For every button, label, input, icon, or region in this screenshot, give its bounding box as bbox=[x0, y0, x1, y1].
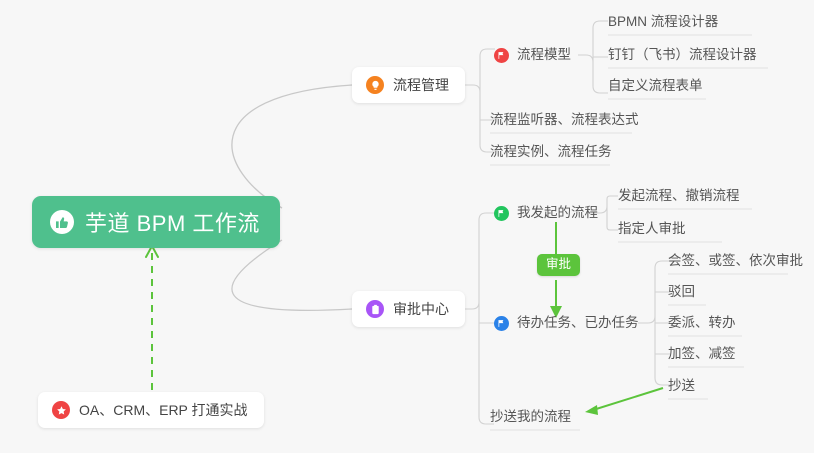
topic-todo-done-tasks[interactable]: 待办任务、已办任务 bbox=[494, 311, 639, 335]
topic-process-instance-task[interactable]: 流程实例、流程任务 bbox=[490, 140, 612, 164]
topic-custom-process-form[interactable]: 自定义流程表单 bbox=[608, 74, 703, 98]
topic-bpmn-designer[interactable]: BPMN 流程设计器 bbox=[608, 10, 718, 34]
flag-icon bbox=[494, 316, 509, 331]
root-label: 芋道 BPM 工作流 bbox=[85, 206, 260, 238]
mindmap-canvas: 芋道 BPM 工作流 流程管理 审批中心 流程模型 BPMN 流程设计器 钉 bbox=[0, 0, 814, 453]
topic-label: 会签、或签、依次审批 bbox=[668, 254, 803, 268]
note-label: OA、CRM、ERP 打通实战 bbox=[79, 400, 248, 420]
note-to-root-arrow bbox=[146, 246, 158, 390]
topic-carbon-copy[interactable]: 抄送 bbox=[668, 374, 695, 398]
topic-countersign-orsign-sequential[interactable]: 会签、或签、依次审批 bbox=[668, 249, 803, 273]
link-root-to-approval bbox=[232, 240, 352, 310]
topic-label: 委派、转办 bbox=[668, 316, 736, 330]
topic-my-started-processes[interactable]: 我发起的流程 bbox=[494, 201, 598, 225]
link-process-trunk bbox=[462, 49, 495, 152]
topic-label: 加签、减签 bbox=[668, 347, 736, 361]
link-approval-trunk bbox=[462, 213, 494, 424]
topic-label: 待办任务、已办任务 bbox=[517, 316, 639, 330]
flag-icon bbox=[494, 206, 509, 221]
topic-process-model[interactable]: 流程模型 bbox=[494, 43, 571, 67]
topic-dingtalk-feishu-designer[interactable]: 钉钉（飞书）流程设计器 bbox=[608, 43, 757, 67]
topic-delegate-transfer[interactable]: 委派、转办 bbox=[668, 311, 736, 335]
link-todo-trunk bbox=[638, 261, 670, 385]
root-node[interactable]: 芋道 BPM 工作流 bbox=[32, 196, 280, 248]
topic-label: 流程实例、流程任务 bbox=[490, 145, 612, 159]
cc-link-arrow bbox=[585, 388, 663, 415]
topic-label: 发起流程、撤销流程 bbox=[618, 189, 740, 203]
clipboard-icon bbox=[366, 300, 384, 318]
branch-label-process-management: 流程管理 bbox=[393, 75, 449, 95]
topic-label: 我发起的流程 bbox=[517, 206, 598, 220]
note-node-integration[interactable]: OA、CRM、ERP 打通实战 bbox=[38, 392, 264, 428]
branch-node-process-management[interactable]: 流程管理 bbox=[352, 67, 465, 103]
topic-label: 驳回 bbox=[668, 285, 695, 299]
topic-label: 流程模型 bbox=[517, 48, 571, 62]
link-model-trunk bbox=[578, 21, 608, 93]
star-icon bbox=[52, 401, 70, 419]
topic-label: 抄送我的流程 bbox=[490, 410, 571, 424]
branch-label-approval-center: 审批中心 bbox=[393, 299, 449, 319]
topic-label: BPMN 流程设计器 bbox=[608, 15, 718, 29]
topic-process-listener-expression[interactable]: 流程监听器、流程表达式 bbox=[490, 108, 639, 132]
topic-label: 流程监听器、流程表达式 bbox=[490, 113, 639, 127]
topic-label: 抄送 bbox=[668, 379, 695, 393]
topic-assignee-approval[interactable]: 指定人审批 bbox=[618, 217, 686, 241]
topic-label: 钉钉（飞书）流程设计器 bbox=[608, 48, 757, 62]
flag-icon bbox=[494, 48, 509, 63]
approval-flow-badge: 审批 bbox=[537, 254, 580, 276]
link-root-to-process bbox=[232, 85, 352, 208]
topic-label: 指定人审批 bbox=[618, 222, 686, 236]
topic-label: 自定义流程表单 bbox=[608, 79, 703, 93]
topic-cc-to-me-processes[interactable]: 抄送我的流程 bbox=[490, 405, 571, 429]
topic-add-remove-sign[interactable]: 加签、减签 bbox=[668, 342, 736, 366]
thumbs-up-icon bbox=[50, 210, 74, 234]
topic-reject[interactable]: 驳回 bbox=[668, 280, 695, 304]
branch-node-approval-center[interactable]: 审批中心 bbox=[352, 291, 465, 327]
topic-start-cancel-process[interactable]: 发起流程、撤销流程 bbox=[618, 184, 740, 208]
lightbulb-icon bbox=[366, 76, 384, 94]
